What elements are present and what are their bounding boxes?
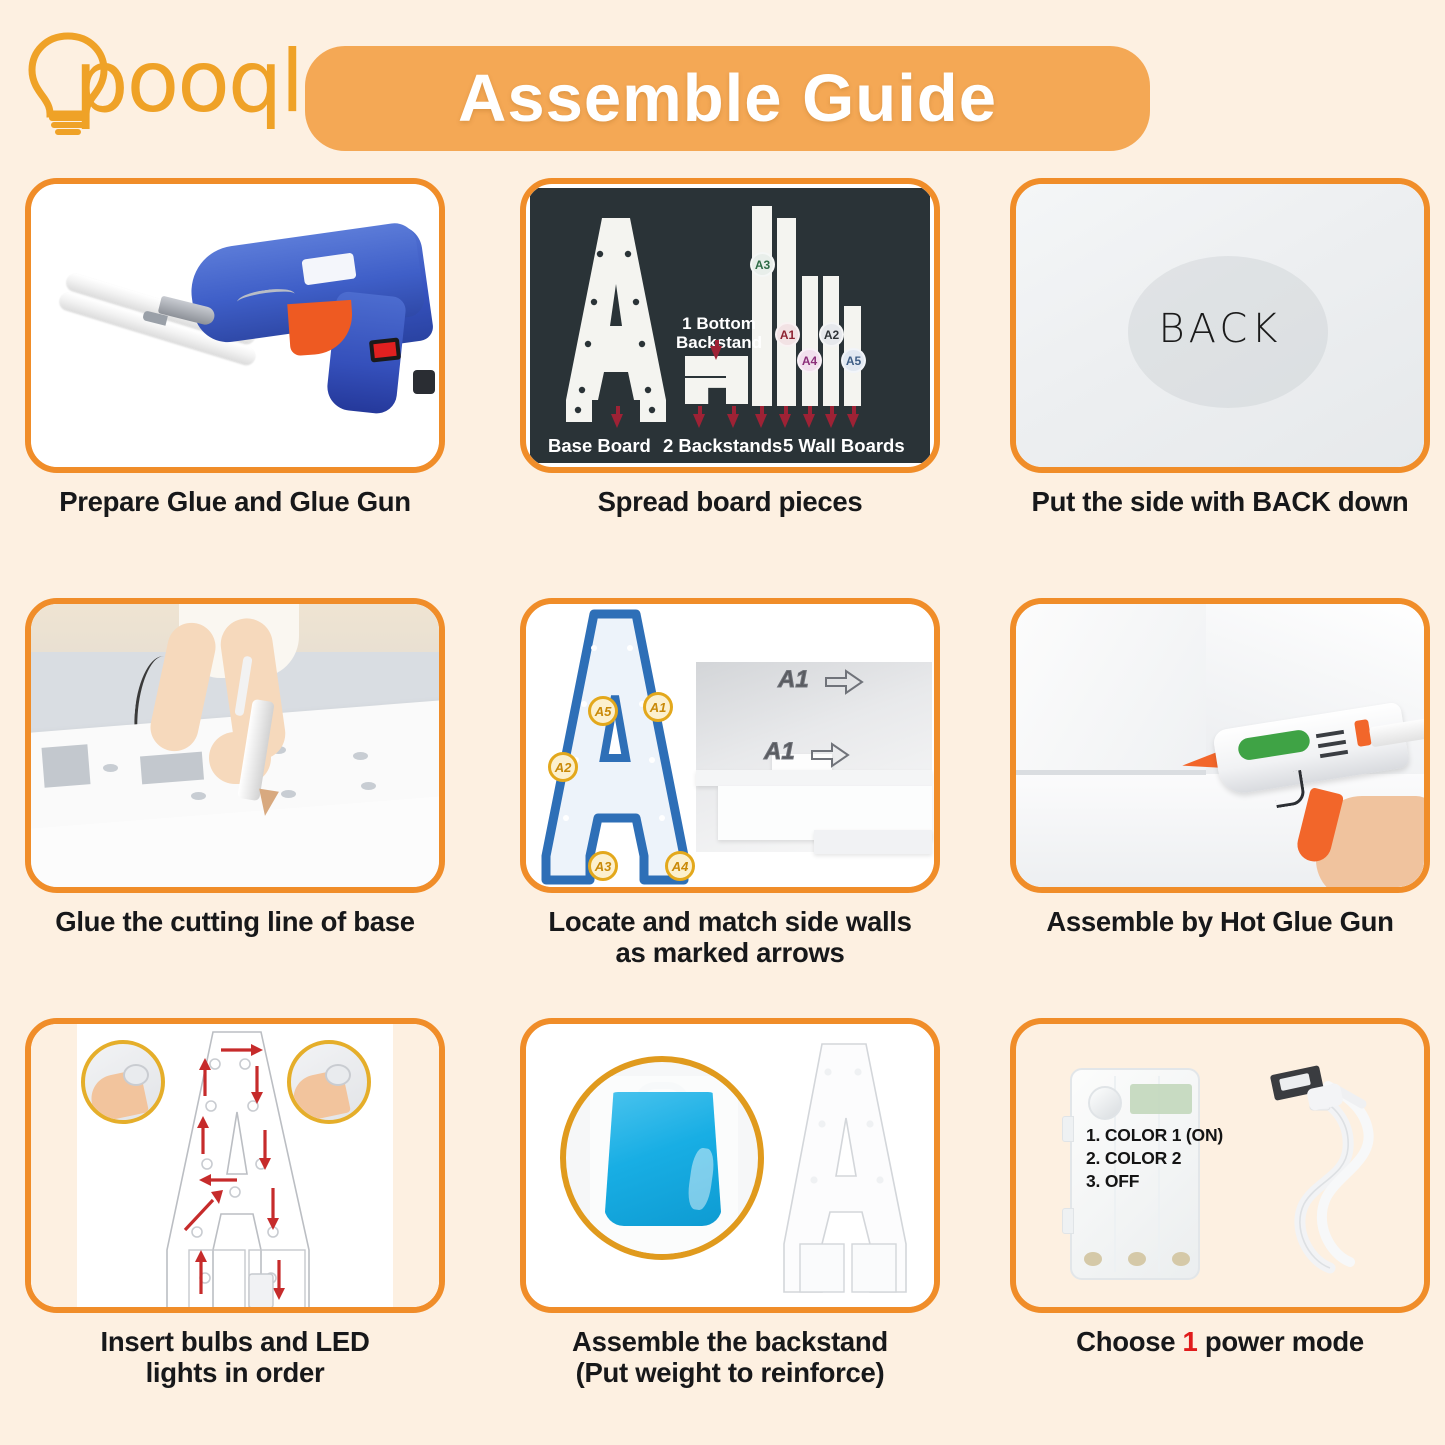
board-pieces-diagram: A3 A1 A4 A2 A5 1 BottomBackstand: [530, 188, 930, 463]
wall-board-a3: [752, 206, 772, 406]
glue-base-photo: [31, 604, 439, 887]
badge-a4: A4: [665, 851, 695, 881]
step-2-image: A3 A1 A4 A2 A5 1 BottomBackstand: [520, 178, 940, 473]
step-6-caption: Assemble by Hot Glue Gun: [1000, 907, 1440, 938]
step-7-image: [25, 1018, 445, 1313]
step-8-image: [520, 1018, 940, 1313]
wall-label-a1-upper: A1: [778, 666, 809, 694]
step-card-3: BACK Put the side with BACK down: [1010, 178, 1430, 598]
step-7-caption: Insert bulbs and LED lights in order: [15, 1327, 455, 1389]
water-weight-bag: [604, 1092, 722, 1226]
power-mode-list: 1. COLOR 1 (ON) 2. COLOR 2 3. OFF: [1086, 1124, 1223, 1193]
step-8-caption-line2: (Put weight to reinforce): [576, 1357, 885, 1388]
backstands-label: 2 Backstands: [663, 435, 782, 457]
step-5-caption-line2: as marked arrows: [615, 937, 844, 968]
steps-row-2: Glue the cutting line of base: [0, 598, 1445, 1018]
steps-row-1: Prepare Glue and Glue Gun: [0, 178, 1445, 598]
power-mode-3: 3. OFF: [1086, 1170, 1223, 1193]
hot-glue-gun-photo: [1016, 604, 1424, 887]
step-3-image: BACK: [1010, 178, 1430, 473]
step-card-2: A3 A1 A4 A2 A5 1 BottomBackstand: [520, 178, 940, 598]
weight-bag-closeup: [560, 1056, 764, 1260]
power-mode-1: 1. COLOR 1 (ON): [1086, 1124, 1223, 1147]
step-card-1: Prepare Glue and Glue Gun: [25, 178, 445, 598]
insert-bulbs-diagram: [31, 1024, 439, 1307]
step-6-image: [1010, 598, 1430, 893]
badge-a5: A5: [841, 348, 866, 373]
badge-a2: A2: [819, 322, 844, 347]
side-walls-diagram: A5 A1 A2 A3 A4 A1: [526, 604, 934, 887]
step-7-caption-line2: lights in order: [146, 1357, 325, 1388]
backstand-piece-bottom: [726, 356, 748, 404]
badge-a4: A4: [797, 348, 822, 373]
step-5-image: A5 A1 A2 A3 A4 A1: [520, 598, 940, 893]
page-title: Assemble Guide: [458, 60, 997, 137]
power-mode-photo: 1. COLOR 1 (ON) 2. COLOR 2 3. OFF: [1016, 1024, 1424, 1307]
base-board-label: Base Board: [548, 435, 651, 457]
step-9-image: 1. COLOR 1 (ON) 2. COLOR 2 3. OFF: [1010, 1018, 1430, 1313]
battery-box-tab: [1062, 1208, 1074, 1234]
power-button[interactable]: [1088, 1086, 1122, 1120]
letter-a-outline: [532, 608, 700, 887]
wall-board-a4: [802, 276, 818, 406]
circuit-board: [1130, 1084, 1192, 1114]
insert-bulb-photo-right: [287, 1040, 371, 1124]
step-5-caption: Locate and match side walls as marked ar…: [510, 907, 950, 969]
badge-a2: A2: [548, 752, 578, 782]
step-1-image: [25, 178, 445, 473]
step-9-caption-number: 1: [1183, 1326, 1198, 1357]
glue-applicator-tip: [255, 789, 279, 818]
step-9-caption-after: power mode: [1198, 1326, 1364, 1357]
base-board-letter-a: [556, 214, 676, 432]
arrow-right-icon: [810, 741, 850, 769]
insert-bulb-photo-left: [81, 1040, 165, 1124]
badge-a3: A3: [750, 252, 775, 277]
backstand-weight-photo: [526, 1024, 934, 1307]
step-5-caption-line1: Locate and match side walls: [548, 906, 911, 937]
step-card-6: Assemble by Hot Glue Gun: [1010, 598, 1430, 1018]
badge-a1: A1: [643, 692, 673, 722]
step-card-7: Insert bulbs and LED lights in order: [25, 1018, 445, 1438]
step-7-caption-line1: Insert bulbs and LED: [100, 1326, 369, 1357]
step-4-caption: Glue the cutting line of base: [15, 907, 455, 938]
step-9-caption-before: Choose: [1076, 1326, 1182, 1357]
steps-grid: Prepare Glue and Glue Gun: [0, 178, 1445, 1438]
glue-gun-cable-cap: [413, 370, 435, 394]
wall-board-a1: [777, 218, 796, 406]
steps-row-3: Insert bulbs and LED lights in order: [0, 1018, 1445, 1438]
wall-boards-label: 5 Wall Boards: [783, 435, 905, 457]
assembled-letter-a: [770, 1040, 920, 1302]
step-card-4: Glue the cutting line of base: [25, 598, 445, 1018]
glue-gun-power-switch: [369, 337, 401, 362]
step-9-caption: Choose 1 power mode: [1000, 1327, 1440, 1358]
header: pooqla Assemble Guide: [0, 0, 1445, 175]
badge-a5-top: A5: [588, 696, 618, 726]
wall-label-a1-lower: A1: [764, 738, 795, 766]
step-card-9: 1. COLOR 1 (ON) 2. COLOR 2 3. OFF: [1010, 1018, 1430, 1438]
arrow-right-icon: [824, 668, 864, 696]
usb-cable: [1264, 1064, 1394, 1280]
step-8-caption-line1: Assemble the backstand: [572, 1326, 888, 1357]
badge-a1: A1: [775, 322, 800, 347]
step-card-8: Assemble the backstand (Put weight to re…: [520, 1018, 940, 1438]
step-3-caption: Put the side with BACK down: [1000, 487, 1440, 518]
battery-box-tab: [1062, 1116, 1074, 1142]
page-title-banner: Assemble Guide: [305, 46, 1150, 151]
assemble-guide-page: pooqla Assemble Guide: [0, 0, 1445, 1445]
step-8-caption: Assemble the backstand (Put weight to re…: [510, 1327, 950, 1389]
power-mode-2: 2. COLOR 2: [1086, 1147, 1223, 1170]
badge-a3: A3: [588, 851, 618, 881]
back-label: BACK: [1016, 306, 1424, 352]
step-card-5: A5 A1 A2 A3 A4 A1: [520, 598, 940, 1018]
step-2-caption: Spread board pieces: [510, 487, 950, 518]
brand-logo: pooqla: [22, 18, 302, 138]
step-1-caption: Prepare Glue and Glue Gun: [15, 487, 455, 518]
step-4-image: [25, 598, 445, 893]
